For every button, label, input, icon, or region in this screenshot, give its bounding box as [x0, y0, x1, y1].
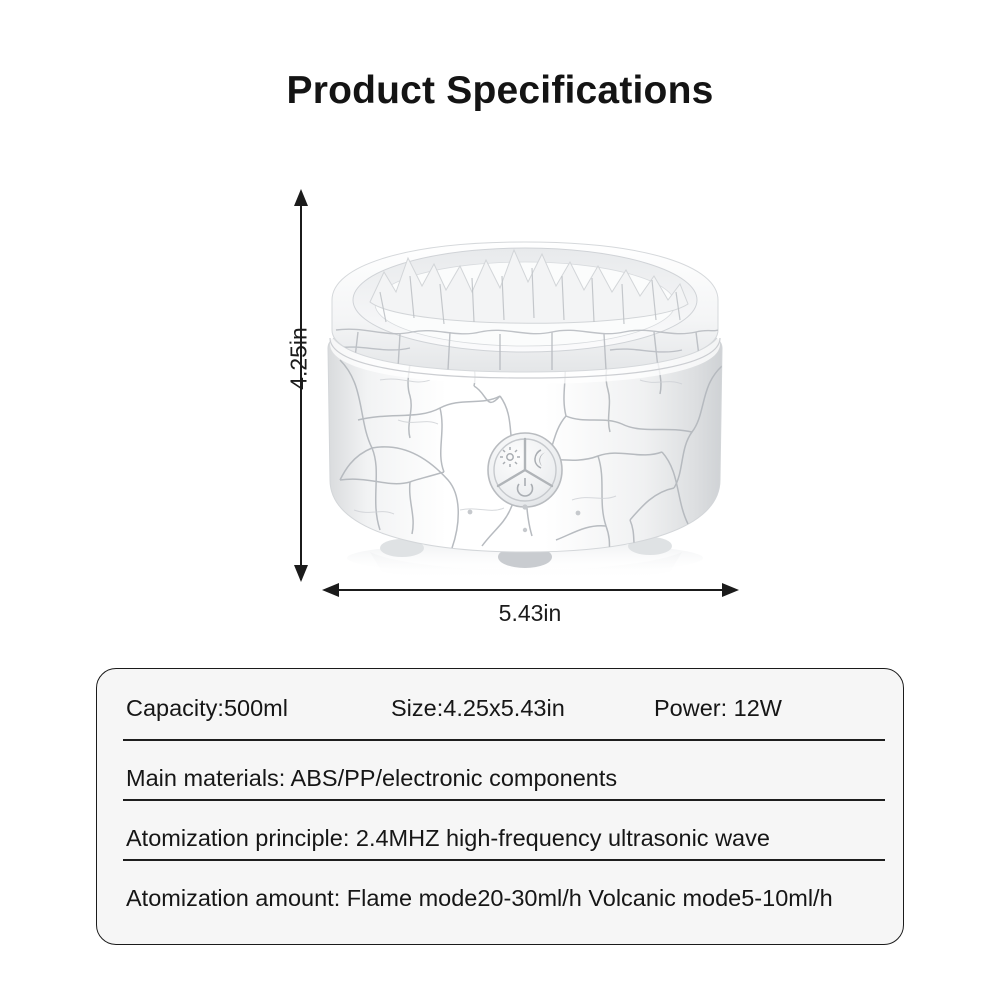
specifications-table: Capacity:500mlSize:4.25x5.43inPower: 12W… [96, 668, 904, 945]
height-dimension-label: 4.25in [286, 314, 313, 404]
product-image-diffuser [310, 180, 740, 580]
spec-row: Capacity:500mlSize:4.25x5.43inPower: 12W [97, 695, 903, 739]
arrow-left-icon [322, 583, 339, 597]
arrow-down-icon [294, 565, 308, 582]
spec-materials: Main materials: ABS/PP/electronic compon… [97, 765, 903, 809]
row-divider [123, 739, 885, 741]
spec-size: Size:4.25x5.43in [391, 695, 654, 722]
product-figure: 4.25in 5.43in [270, 180, 750, 610]
row-divider [123, 799, 885, 801]
page-title: Product Specifications [0, 70, 1000, 113]
row-divider [123, 859, 885, 861]
arrow-up-icon [294, 189, 308, 206]
product-spec-infographic: Product Specifications 4.25in 5.43in [0, 0, 1000, 1000]
control-panel [488, 433, 562, 507]
spec-capacity: Capacity:500ml [126, 695, 391, 722]
arrow-right-icon [722, 583, 739, 597]
width-dimension-label: 5.43in [430, 600, 630, 627]
spec-atomization-principle: Atomization principle: 2.4MHZ high-frequ… [97, 825, 903, 869]
spec-atomization-amount: Atomization amount: Flame mode20-30ml/h … [97, 885, 903, 929]
spec-power: Power: 12W [654, 695, 782, 722]
width-dimension-line [332, 589, 730, 591]
